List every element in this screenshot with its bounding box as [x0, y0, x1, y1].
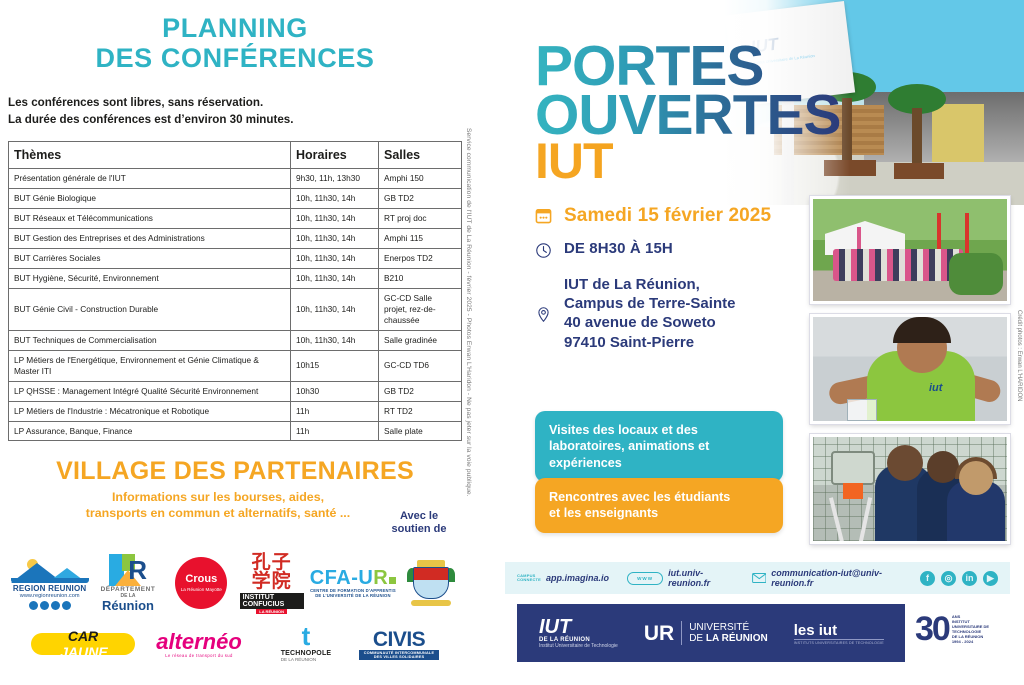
intro-line1: Les conférences sont libres, sans réserv…: [8, 95, 470, 111]
cell-theme: LP Assurance, Banque, Finance: [9, 421, 291, 441]
departement-mark-icon: R: [109, 554, 147, 586]
anniv-number: 30: [915, 612, 949, 646]
cell-horaire: 10h, 11h30, 14h: [291, 229, 379, 249]
cell-salle: RT proj doc: [379, 209, 462, 229]
photo-open-day-tent: [810, 196, 1010, 304]
village-sub-line1: Informations sur les bourses, aides,: [10, 490, 426, 506]
clock-icon: [535, 242, 552, 259]
facebook-icon[interactable]: f: [920, 571, 935, 586]
ur-line1: UNIVERSITÉ: [689, 622, 768, 634]
cell-horaire: 10h, 11h30, 14h: [291, 330, 379, 350]
cell-horaire: 10h, 11h30, 14h: [291, 249, 379, 269]
site-url-text[interactable]: iut.univ-reunion.fr: [668, 568, 734, 588]
event-address: IUT de La Réunion, Campus de Terre-Saint…: [564, 275, 735, 352]
logo-ville-saint-pierre: [402, 560, 460, 606]
cell-salle: GC-CD TD6: [379, 350, 462, 381]
table-row: BUT Réseaux et Télécommunications10h, 11…: [9, 209, 462, 229]
poster-page: PLANNING DES CONFÉRENCES Les conférences…: [0, 0, 1024, 685]
logo-technopole: t TECHNOPOLE DE LA RÉUNION: [263, 626, 349, 662]
avec-soutien-line2: soutien de: [382, 523, 456, 536]
cell-horaire: 10h30: [291, 381, 379, 401]
cell-salle: RT TD2: [379, 401, 462, 421]
logo-iut-reunion: IUT DE LA RÉUNION Institut Universitaire…: [539, 617, 618, 649]
table-row: BUT Carrières Sociales10h, 11h30, 14hEne…: [9, 249, 462, 269]
callout-visits: Visites des locaux et des laboratoires, …: [535, 411, 783, 482]
email-item[interactable]: communication-iut@univ-reunion.fr: [752, 568, 902, 588]
vertical-credit-text: Service communication de l'IUT de La Réu…: [456, 128, 472, 538]
event-date: Samedi 15 février 2025: [564, 205, 771, 227]
cell-horaire: 10h, 11h30, 14h: [291, 289, 379, 331]
conference-table: Thèmes Horaires Salles Présentation géné…: [8, 141, 462, 441]
contact-link-bar: CAMPUS CONNECTE app.imagina.io WWW iut.u…: [505, 562, 1010, 594]
website-item[interactable]: WWW iut.univ-reunion.fr: [627, 568, 734, 588]
anniv-years: 1994 - 2024: [952, 639, 989, 644]
technopole-name: TECHNOPOLE: [281, 650, 332, 657]
date-row: Samedi 15 février 2025: [535, 205, 825, 227]
planning-title: PLANNING DES CONFÉRENCES: [0, 13, 470, 73]
logo-alterneo: alternéo Le réseau de transport du sud: [145, 631, 253, 658]
linkedin-icon[interactable]: in: [962, 571, 977, 586]
region-reunion-url: www.regionreunion.com: [20, 593, 80, 599]
cell-salle: GB TD2: [379, 189, 462, 209]
iut-footer-line2: Institut Universitaire de Technologie: [539, 643, 618, 649]
cfa-ur-name: CFA-UR: [310, 568, 397, 588]
campus-connecte-logo: CAMPUS CONNECTE: [517, 574, 541, 583]
logo-crous: Crous La Réunion Mayotte: [166, 557, 236, 609]
column-header-themes: Thèmes: [9, 142, 291, 169]
cell-horaire: 11h: [291, 401, 379, 421]
ur-line2: DE LA RÉUNION: [689, 633, 768, 645]
column-header-salles: Salles: [379, 142, 462, 169]
app-url-text[interactable]: app.imagina.io: [546, 573, 609, 583]
cell-salle: B210: [379, 269, 462, 289]
callout-teal-line2: laboratoires, animations et: [549, 438, 769, 454]
envelope-icon: [752, 572, 767, 584]
cell-salle: Amphi 150: [379, 169, 462, 189]
crous-name: Crous: [185, 574, 217, 585]
table-row: LP Assurance, Banque, Finance11hSalle pl…: [9, 421, 462, 441]
cell-theme: BUT Génie Civil - Construction Durable: [9, 289, 291, 331]
time-row: DE 8H30 À 15H: [535, 240, 825, 259]
campus-connecte-item[interactable]: CAMPUS CONNECTE app.imagina.io: [517, 573, 609, 583]
photo-gallery: iut: [810, 196, 1010, 554]
callout-meetings: Rencontres avec les étudiants et les ens…: [535, 478, 783, 533]
logo-region-reunion: REGION REUNION www.regionreunion.com: [10, 557, 90, 610]
cell-theme: Présentation générale de l'IUT: [9, 169, 291, 189]
cell-salle: Enerpos TD2: [379, 249, 462, 269]
avec-le-soutien-de-label: Avec le soutien de: [382, 510, 456, 536]
planning-title-line2: DES CONFÉRENCES: [0, 43, 470, 73]
cell-salle: GC-CD Salle projet, rez-de-chaussée: [379, 289, 462, 331]
confucius-name: INSTITUT CONFUCIUS: [240, 593, 304, 609]
cell-theme: BUT Carrières Sociales: [9, 249, 291, 269]
callout-orange-line1: Rencontres avec les étudiants: [549, 489, 769, 505]
table-row: BUT Génie Civil - Construction Durable10…: [9, 289, 462, 331]
car-jaune-part2: JAUNE: [60, 644, 107, 660]
cell-theme: BUT Gestion des Entreprises et des Admin…: [9, 229, 291, 249]
logo-les-iut: les iut INSTITUTS UNIVERSITAIRES DE TECH…: [794, 622, 884, 645]
cell-horaire: 10h, 11h30, 14h: [291, 189, 379, 209]
table-row: LP Métiers de l'Industrie : Mécatronique…: [9, 401, 462, 421]
car-jaune-part1: CAR: [68, 628, 98, 644]
cell-horaire: 10h15: [291, 350, 379, 381]
crous-circle-icon: Crous La Réunion Mayotte: [175, 557, 227, 609]
left-panel: PLANNING DES CONFÉRENCES Les conférences…: [0, 0, 470, 685]
logo-institut-confucius: 孔子 学院 INSTITUT CONFUCIUS LA RÉUNION: [240, 553, 304, 614]
ur-divider: [681, 621, 682, 645]
www-icon: WWW: [627, 572, 663, 585]
cell-theme: BUT Techniques de Commercialisation: [9, 330, 291, 350]
table-row: BUT Gestion des Entreprises et des Admin…: [9, 229, 462, 249]
photo-credit-text: Crédit photos : Erwan L'HARIDON: [1016, 310, 1022, 430]
main-headline: PORTES OUVERTES IUT: [535, 42, 841, 183]
cell-salle: Salle plate: [379, 421, 462, 441]
departement-line3: Réunion: [102, 599, 154, 612]
instagram-icon[interactable]: ◎: [941, 571, 956, 586]
cell-theme: LP QHSSE : Management Intégré Qualité Sé…: [9, 381, 291, 401]
logo-30-ans: 30 ANS INSTITUT UNIVERSITAIRE DE TECHNOL…: [915, 612, 989, 646]
cell-theme: BUT Hygiène, Sécurité, Environnement: [9, 269, 291, 289]
departement-line1: DÉPARTEMENT: [101, 586, 156, 593]
column-header-horaires: Horaires: [291, 142, 379, 169]
cell-theme: BUT Génie Biologique: [9, 189, 291, 209]
alterneo-name: alternéo: [156, 631, 242, 653]
confucius-sub: LA RÉUNION: [256, 609, 287, 614]
address-line4: 97410 Saint-Pierre: [564, 333, 735, 352]
crous-sub: La Réunion Mayotte: [181, 587, 222, 592]
region-reunion-social-icons: [29, 601, 71, 610]
cell-theme: LP Métiers de l'Industrie : Mécatronique…: [9, 401, 291, 421]
cell-salle: Amphi 115: [379, 229, 462, 249]
address-row: IUT de La Réunion, Campus de Terre-Saint…: [535, 275, 825, 352]
village-title: VILLAGE DES PARTENAIRES: [0, 457, 470, 486]
cell-horaire: 10h, 11h30, 14h: [291, 209, 379, 229]
logo-universite-reunion: UR UNIVERSITÉ DE LA RÉUNION: [644, 621, 768, 645]
logo-civis: CIVIS COMMUNAUTÉ INTERCOMMUNALE DES VILL…: [359, 629, 439, 660]
cell-salle: Salle gradinée: [379, 330, 462, 350]
lesiut-mark: les iut: [794, 622, 884, 639]
callout-orange-line2: et les enseignants: [549, 505, 769, 521]
youtube-icon[interactable]: ▶: [983, 571, 998, 586]
logo-cfa-ur: CFA-UR CENTRE DE FORMATION D'APPRENTIS D…: [307, 568, 399, 598]
planning-title-line1: PLANNING: [0, 13, 470, 43]
table-row: BUT Techniques de Commercialisation10h, …: [9, 330, 462, 350]
table-row: BUT Génie Biologique10h, 11h30, 14hGB TD…: [9, 189, 462, 209]
iut-mark: IUT: [539, 617, 618, 637]
callout-teal-line3: expériences: [549, 455, 769, 471]
cfa-ur-sub2: DE L'UNIVERSITÉ DE LA RÉUNION: [315, 593, 391, 598]
region-reunion-name: REGION REUNION: [13, 584, 86, 593]
confucius-han-line2: 学院: [252, 572, 292, 591]
intro-text: Les conférences sont libres, sans réserv…: [8, 95, 470, 128]
event-info-block: Samedi 15 février 2025 DE 8H30 À 15H IUT…: [535, 205, 825, 365]
cell-theme: LP Métiers de l'Energétique, Environneme…: [9, 350, 291, 381]
location-pin-icon: [535, 306, 552, 323]
address-line2: Campus de Terre-Sainte: [564, 294, 735, 313]
event-time: DE 8H30 À 15H: [564, 240, 673, 257]
photo-lab-student: iut: [810, 314, 1010, 424]
partner-logos-row-2: CAR JAUNE alternéo Le réseau de transpor…: [0, 622, 470, 666]
cell-theme: BUT Réseaux et Télécommunications: [9, 209, 291, 229]
partner-logos-row-1: REGION REUNION www.regionreunion.com R D…: [0, 552, 470, 614]
cell-salle: GB TD2: [379, 381, 462, 401]
technopole-mark-icon: t: [302, 626, 311, 647]
lesiut-sub: INSTITUTS UNIVERSITAIRES DE TECHNOLOGIE: [794, 639, 884, 645]
logo-departement-reunion: R DÉPARTEMENT DE LA Réunion: [93, 554, 163, 612]
address-line3: 40 avenue de Soweto: [564, 313, 735, 332]
table-header-row: Thèmes Horaires Salles: [9, 142, 462, 169]
cell-horaire: 11h: [291, 421, 379, 441]
technopole-sub: DE LA RÉUNION: [281, 657, 332, 662]
civis-sub: COMMUNAUTÉ INTERCOMMUNALE DES VILLES SOL…: [359, 650, 439, 660]
village-sub-line2: transports en commun et alternatifs, san…: [10, 506, 426, 522]
avec-soutien-line1: Avec le: [382, 510, 456, 523]
intro-line2: La durée des conférences est d’environ 3…: [8, 112, 470, 128]
anniv-text: ANS INSTITUT UNIVERSITAIRE DE TECHNOLOGI…: [952, 614, 989, 644]
saint-pierre-crest-icon: [409, 560, 453, 606]
social-links: f ◎ in ▶: [920, 571, 998, 586]
ur-mark: UR: [644, 623, 674, 644]
photo-surveying-students: [810, 434, 1010, 544]
civis-name: CIVIS: [373, 629, 425, 650]
table-row: LP QHSSE : Management Intégré Qualité Sé…: [9, 381, 462, 401]
institutional-footer: IUT DE LA RÉUNION Institut Universitaire…: [517, 604, 905, 662]
region-reunion-mountain-icon: [11, 557, 89, 583]
logo-car-jaune: CAR JAUNE: [31, 633, 135, 655]
table-row: Présentation générale de l'IUT9h30, 11h,…: [9, 169, 462, 189]
campus-connecte-line2: CONNECTE: [517, 578, 541, 582]
ur-text: UNIVERSITÉ DE LA RÉUNION: [689, 622, 768, 645]
calendar-icon: [535, 207, 552, 224]
email-text[interactable]: communication-iut@univ-reunion.fr: [771, 568, 902, 588]
cell-horaire: 10h, 11h30, 14h: [291, 269, 379, 289]
alterneo-sub: Le réseau de transport du sud: [165, 653, 232, 658]
table-row: LP Métiers de l'Energétique, Environneme…: [9, 350, 462, 381]
address-line1: IUT de La Réunion,: [564, 275, 735, 294]
table-row: BUT Hygiène, Sécurité, Environnement10h,…: [9, 269, 462, 289]
confucius-han-line1: 孔子: [252, 553, 292, 572]
cell-horaire: 9h30, 11h, 13h30: [291, 169, 379, 189]
callout-teal-line1: Visites des locaux et des: [549, 422, 769, 438]
